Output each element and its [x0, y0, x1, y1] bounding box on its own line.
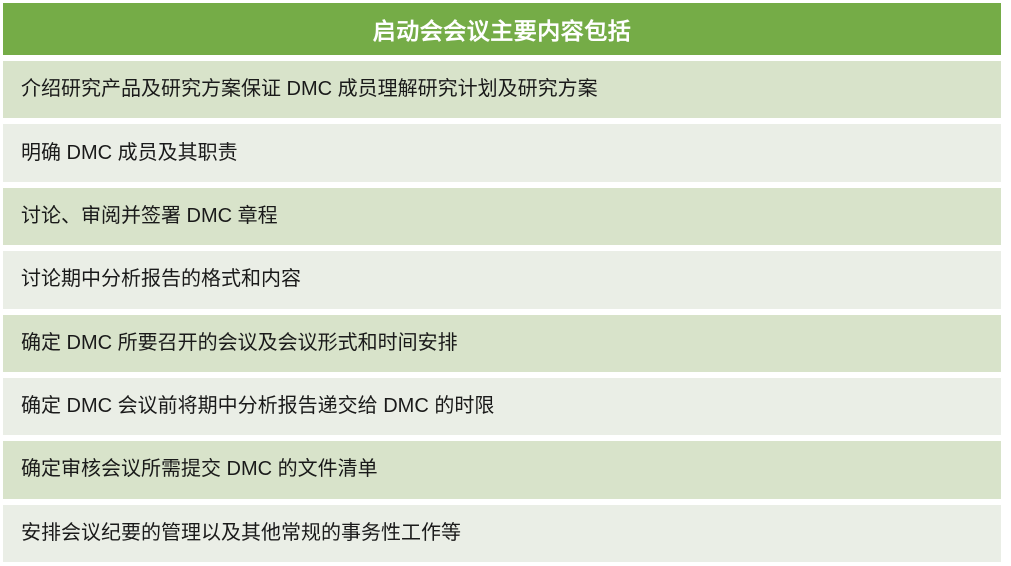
table-row: 安排会议纪要的管理以及其他常规的事务性工作等 — [3, 505, 1001, 562]
content-table: 启动会会议主要内容包括 介绍研究产品及研究方案保证 DMC 成员理解研究计划及研… — [0, 0, 1011, 566]
table-row: 讨论期中分析报告的格式和内容 — [3, 251, 1001, 308]
table-row: 确定 DMC 会议前将期中分析报告递交给 DMC 的时限 — [3, 378, 1001, 435]
table-row-text: 介绍研究产品及研究方案保证 DMC 成员理解研究计划及研究方案 — [21, 76, 598, 103]
table-row: 讨论、审阅并签署 DMC 章程 — [3, 188, 1001, 245]
table-row-text: 确定审核会议所需提交 DMC 的文件清单 — [21, 456, 378, 483]
table-body: 介绍研究产品及研究方案保证 DMC 成员理解研究计划及研究方案 明确 DMC 成… — [3, 55, 1001, 562]
table-row-text: 讨论期中分析报告的格式和内容 — [21, 266, 301, 293]
table-row-text: 确定 DMC 所要召开的会议及会议形式和时间安排 — [21, 330, 458, 357]
table-row-text: 安排会议纪要的管理以及其他常规的事务性工作等 — [21, 520, 461, 547]
table-row: 确定审核会议所需提交 DMC 的文件清单 — [3, 441, 1001, 498]
table-row-text: 确定 DMC 会议前将期中分析报告递交给 DMC 的时限 — [21, 393, 494, 420]
table-row-text: 讨论、审阅并签署 DMC 章程 — [21, 203, 278, 230]
table-title: 启动会会议主要内容包括 — [373, 12, 632, 46]
table-row: 介绍研究产品及研究方案保证 DMC 成员理解研究计划及研究方案 — [3, 61, 1001, 118]
table-row: 明确 DMC 成员及其职责 — [3, 124, 1001, 181]
table-row: 确定 DMC 所要召开的会议及会议形式和时间安排 — [3, 315, 1001, 372]
table-row-text: 明确 DMC 成员及其职责 — [21, 140, 238, 167]
table-header-banner: 启动会会议主要内容包括 — [3, 3, 1001, 55]
